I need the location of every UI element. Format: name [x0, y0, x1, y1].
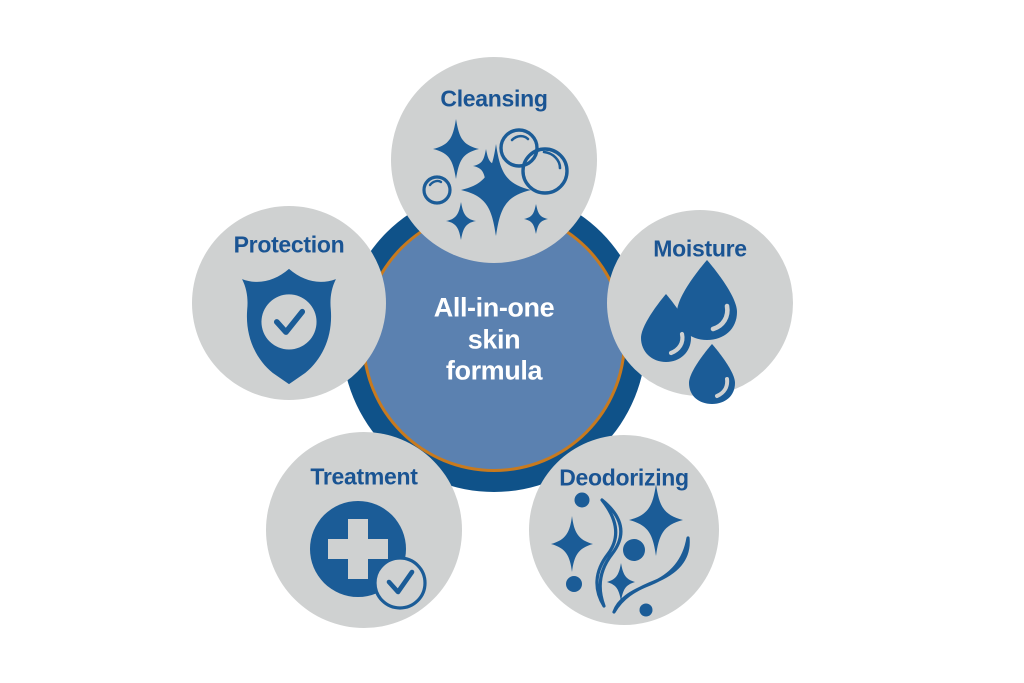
node-protection[interactable]: [192, 206, 386, 400]
node-cleansing[interactable]: [391, 57, 597, 263]
check-badge: [375, 558, 425, 608]
node-deodorizing[interactable]: [529, 435, 719, 625]
diagram-canvas: [0, 0, 1024, 683]
infographic-root: Cleansing Moisture Deodorizing Treatment…: [0, 0, 1024, 683]
node-treatment[interactable]: [266, 432, 462, 628]
